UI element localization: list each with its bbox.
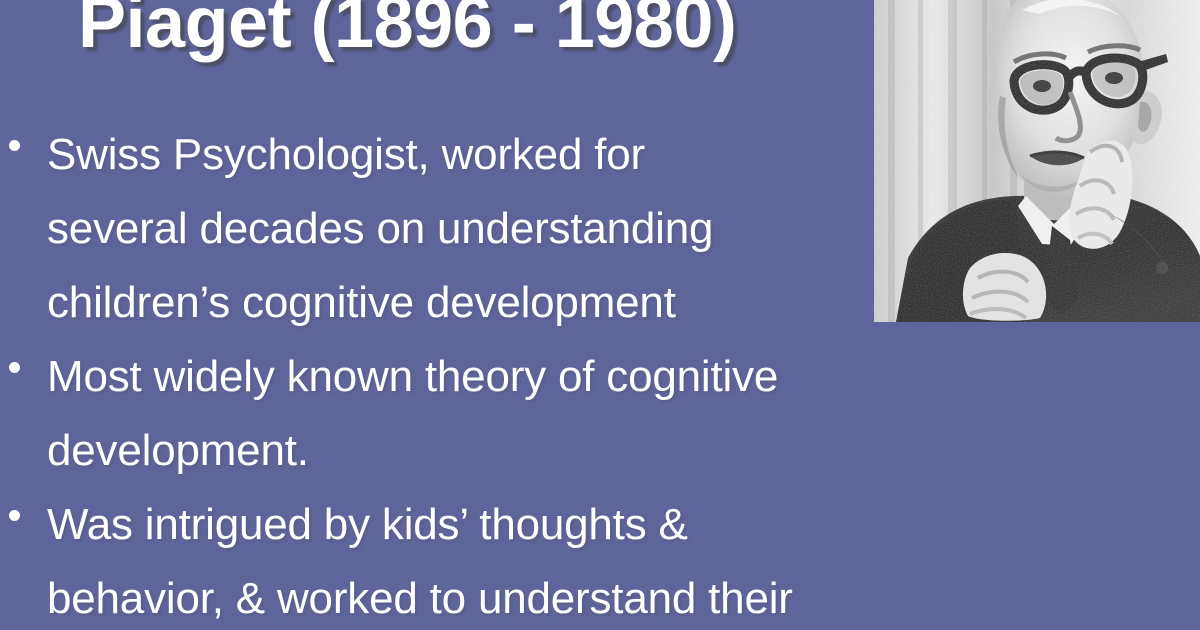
bullet-line: Most widely known theory of cognitive: [47, 340, 1200, 414]
bullet-line: behavior, & worked to understand their: [47, 562, 1200, 630]
bullet-line: Was intrigued by kids’ thoughts &: [47, 488, 1200, 562]
bullet-line: development.: [47, 414, 1200, 488]
bullet-dot-icon: [9, 510, 20, 521]
piaget-portrait-photo: [874, 0, 1200, 322]
presentation-slide: Piaget (1896 - 1980) Swiss Psychologist,…: [0, 0, 1200, 630]
bullet-text: Was intrigued by kids’ thoughts & behavi…: [47, 488, 1200, 630]
bullet-text: Most widely known theory of cognitive de…: [47, 340, 1200, 488]
list-item: Was intrigued by kids’ thoughts & behavi…: [0, 488, 1200, 630]
bullet-dot-icon: [9, 140, 20, 151]
bullet-dot-icon: [9, 362, 20, 373]
list-item: Most widely known theory of cognitive de…: [0, 340, 1200, 488]
page-title: Piaget (1896 - 1980): [78, 0, 736, 65]
